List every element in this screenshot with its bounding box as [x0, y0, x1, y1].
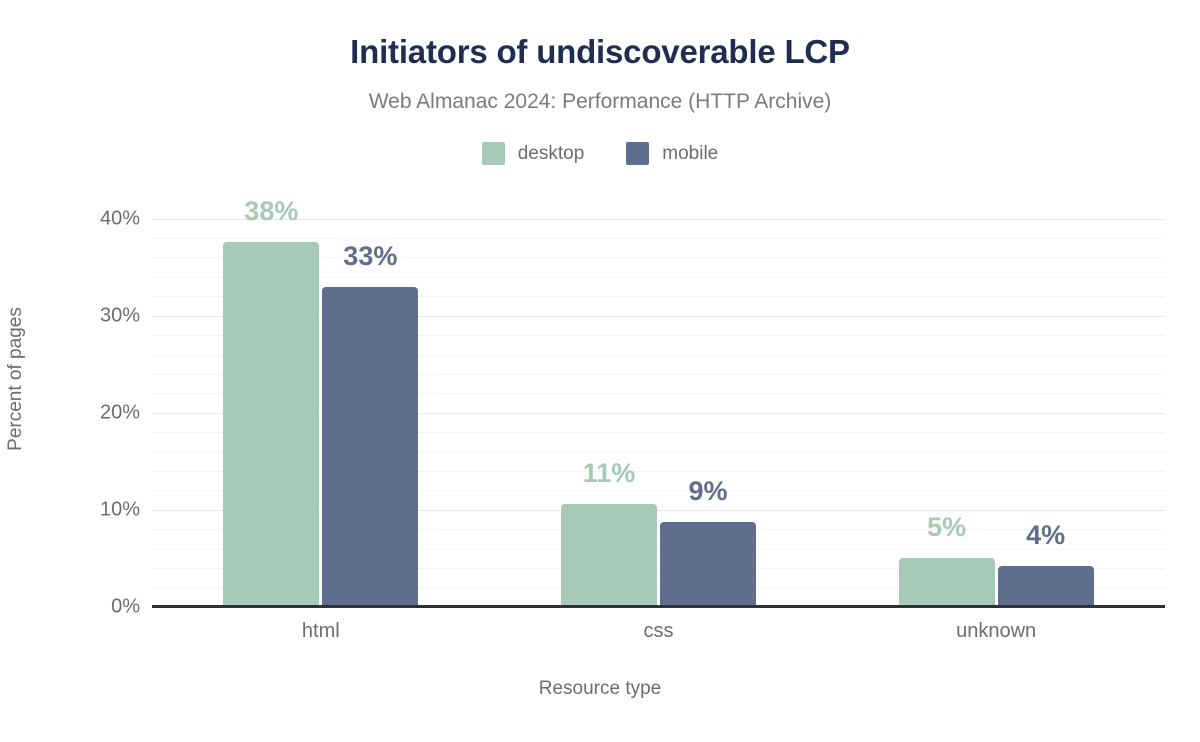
bar-desktop-css[interactable]	[561, 504, 657, 607]
chart-legend: desktop mobile	[0, 142, 1200, 165]
plot-area: 38%33%11%9%5%4%	[152, 204, 1165, 607]
legend-label-mobile: mobile	[662, 143, 718, 165]
y-axis-ticks: 0%10%20%30%40%	[22, 204, 140, 607]
bar-mobile-unknown[interactable]	[998, 566, 1094, 607]
y-tick-label: 10%	[30, 498, 140, 521]
x-tick-label-css: css	[644, 620, 674, 643]
y-tick-label: 30%	[30, 304, 140, 327]
x-tick-label-unknown: unknown	[956, 620, 1036, 643]
legend-item-desktop[interactable]: desktop	[482, 142, 585, 165]
legend-swatch-mobile	[626, 142, 649, 165]
bar-value-desktop-unknown: 5%	[927, 512, 966, 543]
bar-value-desktop-css: 11%	[583, 458, 636, 489]
chart-title: Initiators of undiscoverable LCP	[0, 33, 1200, 71]
bar-series-container: 38%33%11%9%5%4%	[152, 204, 1165, 607]
x-tick-label-html: html	[302, 620, 340, 643]
y-tick-label: 40%	[30, 207, 140, 230]
y-axis-label: Percent of pages	[5, 279, 27, 479]
chart-figure: Initiators of undiscoverable LCP Web Alm…	[0, 0, 1200, 742]
bar-value-desktop-html: 38%	[244, 196, 298, 227]
bar-desktop-html[interactable]	[223, 242, 319, 607]
y-tick-label: 20%	[30, 401, 140, 424]
bar-desktop-unknown[interactable]	[899, 558, 995, 607]
bar-value-mobile-unknown: 4%	[1026, 520, 1065, 551]
legend-label-desktop: desktop	[518, 143, 585, 165]
chart-subtitle: Web Almanac 2024: Performance (HTTP Arch…	[0, 90, 1200, 114]
y-tick-label: 0%	[30, 596, 140, 619]
bar-mobile-html[interactable]	[322, 287, 418, 607]
legend-item-mobile[interactable]: mobile	[626, 142, 718, 165]
bar-mobile-css[interactable]	[660, 522, 756, 607]
x-axis-line	[152, 605, 1165, 608]
bar-value-mobile-html: 33%	[343, 241, 397, 272]
x-axis-label: Resource type	[0, 678, 1200, 700]
legend-swatch-desktop	[482, 142, 505, 165]
bar-value-mobile-css: 9%	[688, 476, 727, 507]
